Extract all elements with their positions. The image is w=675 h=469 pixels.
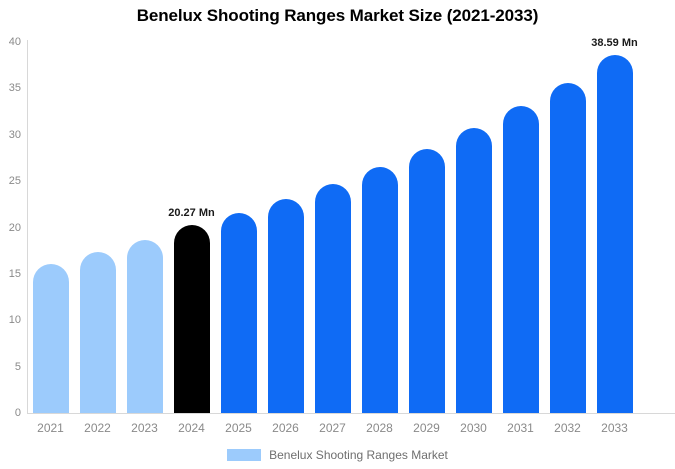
x-axis-tick-label: 2027 [309,421,357,435]
y-axis-tick-label: 20 [0,223,21,234]
x-axis-tick-label: 2030 [450,421,498,435]
x-axis-tick-label: 2025 [215,421,263,435]
y-axis-tick-label: 5 [0,362,21,373]
bar-2023[interactable] [127,240,163,413]
y-axis-tick-label: 40 [0,37,21,48]
bar-2024[interactable] [174,225,210,413]
bar-value-label-2024: 20.27 Mn [147,207,237,219]
x-axis-tick-label: 2024 [168,421,216,435]
x-axis-tick-label: 2021 [27,421,75,435]
bar-2031[interactable] [503,106,539,413]
legend-swatch [227,449,261,461]
y-axis-tick-label: 35 [0,83,21,94]
y-axis-tick-label: 25 [0,176,21,187]
bar-value-label-2033: 38.59 Mn [570,37,660,49]
bar-2028[interactable] [362,167,398,413]
bar-2027[interactable] [315,184,351,413]
bar-2026[interactable] [268,199,304,413]
bar-2029[interactable] [409,149,445,413]
x-axis-tick-label: 2033 [591,421,639,435]
legend-label: Benelux Shooting Ranges Market [269,448,448,462]
chart-legend: Benelux Shooting Ranges Market [0,448,675,462]
x-axis-tick-label: 2029 [403,421,451,435]
x-axis-tick-label: 2028 [356,421,404,435]
bar-2030[interactable] [456,128,492,413]
y-axis-tick-label: 0 [0,408,21,419]
bar-2033[interactable] [597,55,633,413]
x-axis-tick-label: 2032 [544,421,592,435]
x-axis-tick-label: 2031 [497,421,545,435]
bar-2025[interactable] [221,213,257,413]
x-axis-line [27,413,675,414]
plot-area: 0510152025303540202120222023202420252026… [0,0,675,469]
bar-2032[interactable] [550,83,586,413]
x-axis-tick-label: 2026 [262,421,310,435]
x-axis-tick-label: 2022 [74,421,122,435]
bar-2022[interactable] [80,252,116,413]
y-axis-tick-label: 10 [0,315,21,326]
x-axis-tick-label: 2023 [121,421,169,435]
y-axis-tick-label: 15 [0,269,21,280]
y-axis-tick-label: 30 [0,130,21,141]
chart-container: Benelux Shooting Ranges Market Size (202… [0,0,675,469]
y-axis-line [27,40,28,414]
bar-2021[interactable] [33,264,69,413]
